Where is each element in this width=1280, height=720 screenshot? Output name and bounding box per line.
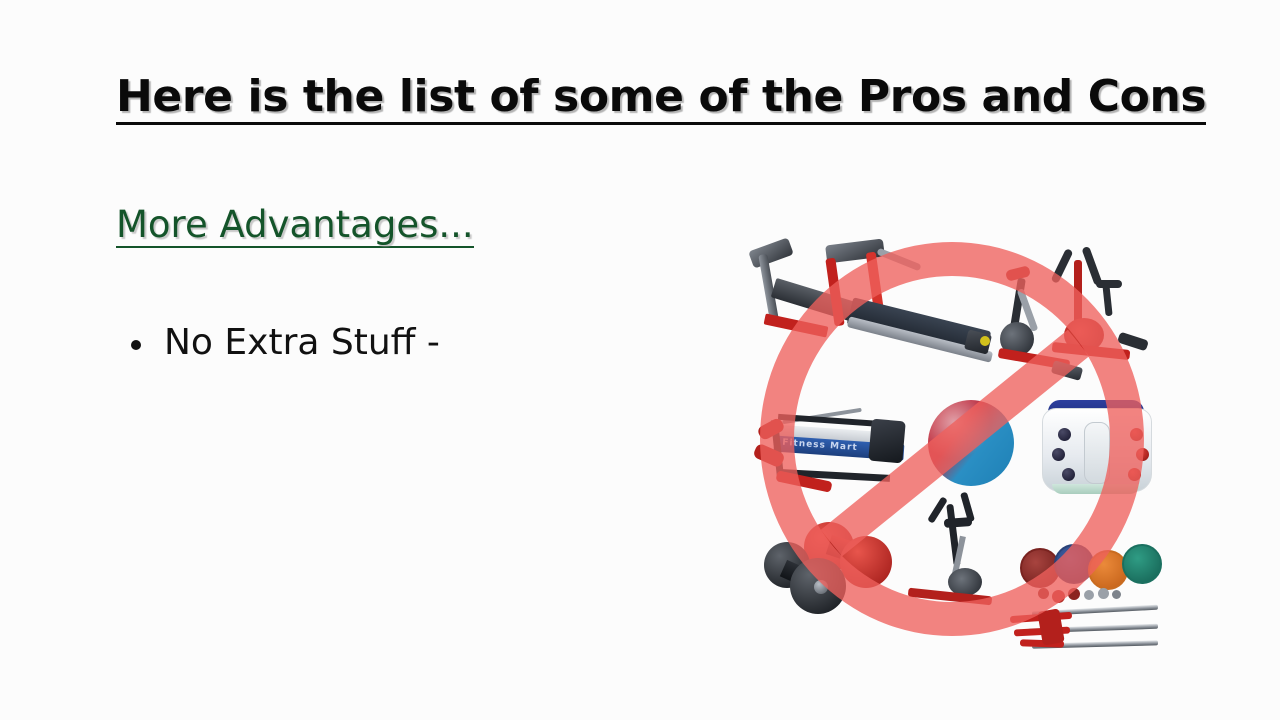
dumbbell-cap-icon [814,580,828,594]
small-weight-part-icon [1068,588,1080,600]
presentation-slide: Here is the list of some of the Pros and… [0,0,1280,720]
bullet-dot-icon [131,340,141,350]
cross-trainer-seat-icon [944,517,973,528]
elliptical-bar-icon [1102,284,1112,317]
treadmill-console-icon [748,237,794,268]
small-weight-part-icon [1052,590,1065,603]
elliptical-post-icon [1074,260,1082,326]
foot-massager-button-icon [1062,468,1075,481]
foot-massager-button-icon [1052,448,1065,461]
bullet-list: No Extra Stuff - [116,322,440,363]
exercise-bike-pedal-icon [1051,360,1083,381]
foot-massager-button-icon [1128,468,1141,481]
weight-disc-icon [1122,544,1162,584]
treadmill-upright-icon [825,258,844,327]
treadmill-handle-icon [876,248,921,272]
list-item-label: No Extra Stuff - [164,322,440,363]
foot-massager-button-icon [1136,448,1149,461]
foot-massager-center-icon [1084,422,1110,484]
slide-subheading: More Advantages... [116,206,474,248]
treadmill-cap-icon [980,336,990,346]
bench-seat-icon [868,419,906,464]
stability-ball-icon [928,400,1014,486]
small-weight-part-icon [1112,590,1121,599]
small-weight-part-icon [1098,588,1109,599]
list-item: No Extra Stuff - [116,322,440,363]
foot-massager-base-icon [1052,484,1140,494]
slide-title: Here is the list of some of the Pros and… [116,74,1206,125]
elliptical-handle-icon [1051,248,1074,284]
no-gym-equipment-image: Fitness Mart [752,236,1164,654]
dumbbell-icon [840,536,892,588]
small-weight-part-icon [1084,590,1094,600]
small-weight-part-icon [1038,588,1049,599]
cross-trainer-base-icon [908,588,992,606]
foot-massager-button-icon [1058,428,1071,441]
elliptical-bar-top-icon [1096,280,1122,288]
treadmill-base-icon [764,313,829,337]
foot-massager-button-icon [1130,428,1143,441]
